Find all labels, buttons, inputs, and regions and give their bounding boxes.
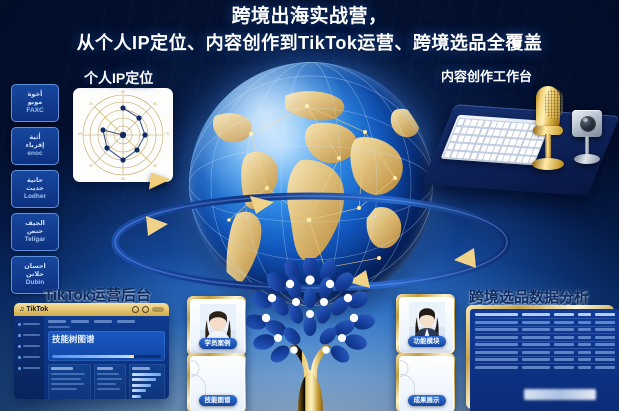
progress-bar[interactable] (52, 355, 161, 359)
polar-chart-svg: 5070 3060 8040 9020 (73, 88, 173, 182)
badge-card-label: 功能模块 (408, 336, 446, 347)
microphone-icon (530, 86, 566, 178)
badge-card-label: 技能图谱 (199, 395, 237, 406)
svg-text:70: 70 (165, 132, 169, 136)
badge-card-inner: 成果展示 (399, 356, 454, 411)
mic-body (536, 86, 560, 130)
tiktok-brand-label: TikTok (26, 306, 48, 313)
tab-item[interactable] (94, 320, 112, 323)
bar (132, 373, 161, 376)
badge-card-student-cases[interactable]: 学员案例 (187, 296, 246, 356)
hero-title: 技能树图谱 (52, 334, 161, 344)
badge-card-skill-map[interactable]: 技能图谱 (187, 353, 246, 411)
column-header (554, 313, 574, 316)
sidebar-item[interactable] (18, 354, 40, 360)
camera-icon (570, 110, 606, 172)
music-note-icon: ♫ (19, 306, 24, 313)
left-badge-line1: احسان (24, 263, 46, 271)
avatar-body (190, 374, 206, 395)
card-header (132, 367, 150, 370)
svg-text:30: 30 (121, 177, 125, 181)
column-header (595, 313, 615, 316)
svg-text:90: 90 (89, 164, 93, 168)
sidebar-item-label (23, 323, 40, 326)
column-header (578, 313, 592, 316)
left-badge: أخوة موبو FAXC (11, 84, 59, 122)
section-label-tiktok-backend: TikTok运营后台 (44, 284, 151, 305)
sidebar-item[interactable] (18, 321, 40, 327)
left-badge-line1: أثية (29, 134, 40, 142)
sidebar-item[interactable] (18, 343, 40, 349)
card-line (97, 383, 116, 385)
tiktok-header-icons (132, 306, 164, 313)
badge-card-inner: 技能图谱 (190, 356, 245, 411)
title-line-2: 从个人IP定位、内容创作到TikTok运营、跨境选品全覆盖 (0, 30, 619, 56)
left-badge-line1: حانية (27, 177, 43, 185)
card-line (97, 388, 120, 390)
svg-text:50: 50 (121, 90, 125, 94)
card-line (51, 383, 84, 385)
left-badge-line3: FAXC (26, 107, 43, 115)
badge-card-label: 学员案例 (199, 338, 237, 349)
avatar-placeholder-icon (399, 357, 418, 397)
left-badge-line3: Teligar (25, 236, 46, 244)
table-header-row (475, 313, 615, 316)
left-badge: الجيف حنص Teligar (11, 213, 59, 251)
left-badge: أثية إقرباء enoc (11, 127, 59, 165)
section-label-content-studio: 内容创作工作台 (441, 66, 532, 85)
account-menu[interactable] (152, 307, 164, 312)
badge-card-inner: 学员案例 (190, 299, 245, 355)
sidebar-item-label (23, 367, 40, 370)
dashboard-cards-row (48, 364, 165, 399)
cursor-arrow-icon (149, 173, 171, 193)
left-badge-line2: موبو (28, 99, 43, 107)
tiktok-dashboard-body: 技能树图谱 (14, 316, 169, 399)
table-row[interactable] (475, 366, 615, 369)
left-badge-line2: إقرباء (26, 142, 45, 150)
section-label-data-analysis: 跨境选品数据分析 (469, 286, 589, 307)
svg-text:40: 40 (153, 164, 157, 168)
title-line-1: 跨境出海实战营， (0, 4, 619, 30)
tab-item[interactable] (48, 320, 66, 323)
badge-card-feature-module[interactable]: 功能模块 (396, 294, 455, 354)
left-badge-column: أخوة موبو FAXC أثية إقرباء enoc حانية حد… (11, 84, 59, 299)
search-icon[interactable] (132, 306, 139, 313)
sidebar-item-label (23, 334, 40, 337)
tab-item[interactable] (71, 320, 89, 323)
bar (132, 378, 156, 381)
sidebar-item-icon (18, 334, 21, 337)
sidebar-item-label (23, 345, 40, 348)
data-analysis-table-mockup[interactable] (466, 305, 614, 409)
tiktok-sidebar[interactable] (14, 316, 44, 399)
progress-handle[interactable] (129, 355, 134, 359)
left-badge-line2: حديث (26, 185, 44, 193)
dashboard-card-list (48, 364, 91, 399)
table-divider (475, 356, 615, 357)
table-divider (475, 348, 615, 349)
sidebar-item-icon (18, 345, 21, 348)
table-divider (475, 363, 615, 364)
table-row[interactable] (475, 343, 615, 346)
sidebar-item[interactable] (18, 365, 40, 371)
left-badge-line3: Dubin (26, 279, 44, 287)
section-label-ip-positioning: 个人IP定位 (84, 68, 153, 88)
table-row[interactable] (475, 321, 615, 324)
card-line (51, 388, 77, 390)
left-badge-line3: Lodher (24, 193, 46, 201)
badge-card-label: 成果展示 (408, 395, 446, 406)
sidebar-item-icon (18, 323, 21, 326)
left-badge-line2: حنص (27, 228, 43, 236)
left-badge-line1: الجيف (25, 220, 45, 228)
tiktok-main-content: 技能树图谱 (44, 316, 169, 399)
bar (132, 389, 146, 392)
mic-base (532, 158, 564, 170)
table-divider (475, 341, 615, 342)
badge-card-results[interactable]: 成果展示 (396, 353, 455, 411)
camera-base (574, 154, 600, 164)
breadcrumb (48, 326, 70, 328)
bar (132, 384, 151, 387)
badge-card-inner: 功能模块 (399, 297, 454, 353)
tab-item[interactable] (117, 320, 135, 323)
dashboard-card-bar-chart (129, 364, 165, 399)
table-row[interactable] (475, 358, 615, 361)
svg-text:80: 80 (153, 102, 157, 106)
column-header (522, 313, 549, 316)
left-badge-line3: enoc (27, 150, 42, 158)
tiktok-logo: ♫ TikTok (19, 306, 48, 313)
table-divider (475, 326, 615, 327)
svg-text:60: 60 (78, 132, 82, 136)
table-divider (475, 333, 615, 334)
sidebar-item[interactable] (18, 332, 40, 338)
table-row[interactable] (475, 328, 615, 331)
svg-text:20: 20 (89, 102, 93, 106)
card-header (97, 367, 112, 370)
gear-icon[interactable] (142, 306, 149, 313)
card-line (51, 378, 81, 380)
content-studio-illustration (430, 84, 612, 202)
bar (132, 395, 141, 398)
table-row[interactable] (475, 351, 615, 354)
camera-body (572, 110, 602, 137)
skill-tree-hero-panel: 技能树图谱 (48, 331, 165, 361)
card-line (97, 378, 122, 380)
left-badge-line1: أخوة (28, 91, 43, 99)
left-badge-line2: حلاتن (26, 271, 44, 279)
poster-title: 跨境出海实战营， 从个人IP定位、内容创作到TikTok运营、跨境选品全覆盖 (0, 4, 619, 56)
dashboard-card-metrics (94, 364, 126, 399)
table-row[interactable] (475, 336, 615, 339)
table-overlay-blur (524, 389, 596, 400)
camera-lens (580, 116, 596, 132)
poster-canvas: 跨境出海实战营， 从个人IP定位、内容创作到TikTok运营、跨境选品全覆盖 أ… (0, 0, 619, 411)
tiktok-dashboard-mockup[interactable]: ♫ TikTok (14, 303, 169, 399)
table-divider (475, 318, 615, 319)
avatar-body (399, 374, 415, 395)
card-line (51, 373, 85, 375)
progress-fill (52, 355, 130, 359)
avatar-placeholder-icon (190, 357, 209, 397)
card-header (51, 367, 73, 370)
left-badge: حانية حديث Lodher (11, 170, 59, 208)
tree-icon (246, 258, 376, 411)
card-line (97, 373, 119, 375)
sidebar-item-icon (18, 356, 21, 359)
mic-mesh (545, 89, 563, 119)
column-header (475, 313, 518, 316)
ip-positioning-radar-chart: 5070 3060 8040 9020 (73, 88, 173, 182)
tiktok-tab-bar[interactable] (48, 320, 165, 323)
sidebar-item-icon (18, 367, 21, 370)
sidebar-item-label (23, 356, 40, 359)
